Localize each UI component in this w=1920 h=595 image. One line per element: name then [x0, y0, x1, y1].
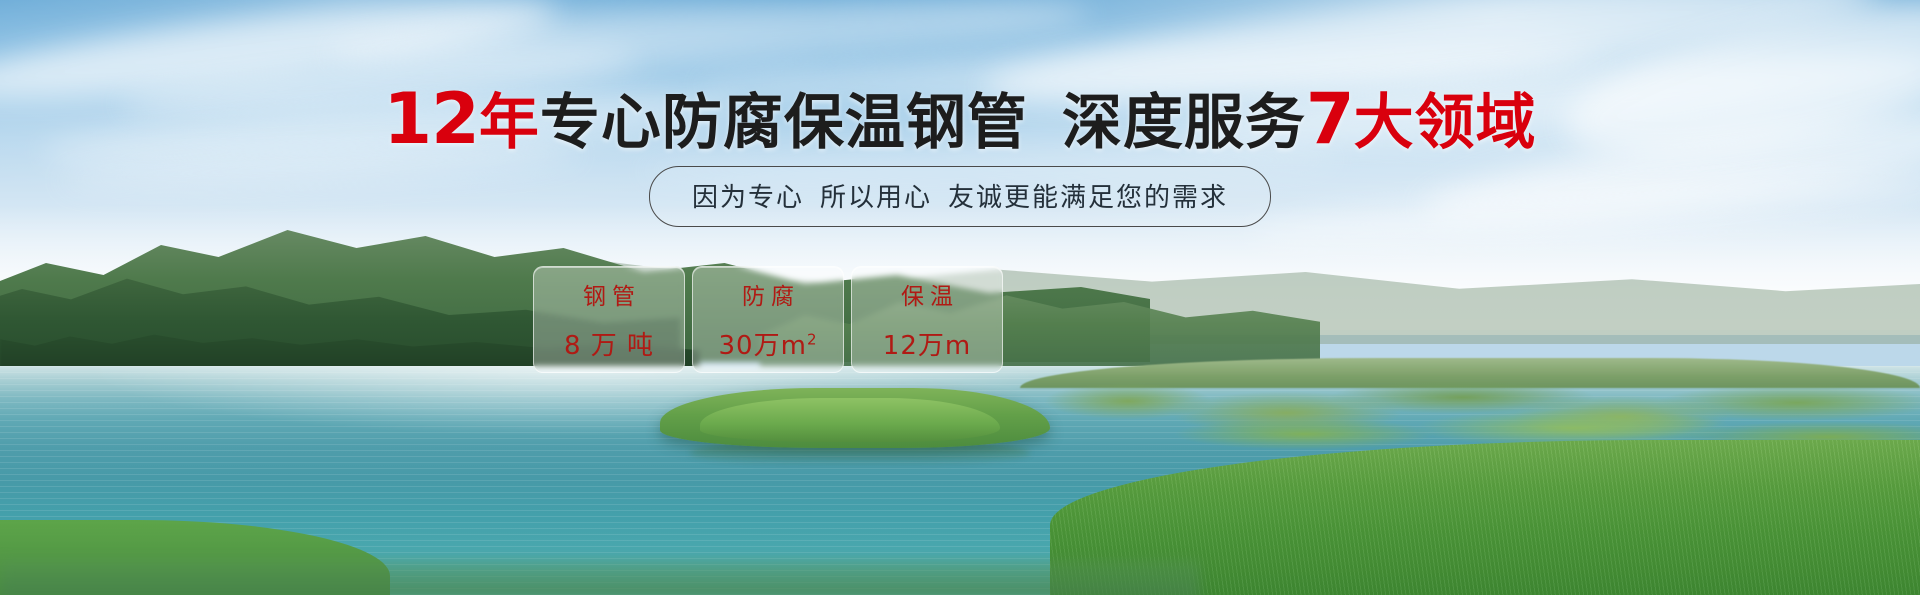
- headline-years-unit: 年: [479, 88, 540, 158]
- stat-card-value: 30万m2: [719, 325, 818, 362]
- stat-card-value-text: 12万m: [883, 331, 971, 361]
- headline-years-number: 12: [383, 78, 478, 160]
- subtitle-container: 因为专心所以用心友诚更能满足您的需求: [0, 166, 1920, 227]
- subtitle-part-3: 友诚更能满足您的需求: [948, 183, 1228, 213]
- stat-card-anticorrosion: 防腐 30万m2: [692, 266, 844, 373]
- headline-fields-word: 大领域: [1354, 88, 1537, 158]
- headline-service-text: 深度服务: [1062, 88, 1306, 158]
- headline-fields-number: 7: [1306, 78, 1354, 160]
- stat-card-steel-pipe: 钢管 8 万 吨: [533, 266, 685, 373]
- stat-card-value-text: 8 万 吨: [564, 331, 654, 361]
- subtitle-part-1: 因为专心: [692, 183, 804, 213]
- stat-card-value: 12万m: [883, 325, 971, 362]
- stat-card-value: 8 万 吨: [564, 325, 654, 362]
- stat-card-value-text: 30万m: [719, 331, 807, 361]
- headline: 12年专心防腐保温钢管深度服务7大领域: [0, 84, 1920, 154]
- stat-card-label: 防腐: [736, 277, 800, 311]
- banner-content: 12年专心防腐保温钢管深度服务7大领域 因为专心所以用心友诚更能满足您的需求 钢…: [0, 0, 1920, 595]
- stat-card-value-sup: 2: [807, 330, 818, 348]
- subtitle-part-2: 所以用心: [820, 183, 932, 213]
- stat-cards: 钢管 8 万 吨 防腐 30万m2 保温 12万m: [533, 266, 1003, 373]
- stat-card-label: 保温: [895, 277, 959, 311]
- headline-main-text: 专心防腐保温钢管: [540, 88, 1028, 158]
- hero-banner: 12年专心防腐保温钢管深度服务7大领域 因为专心所以用心友诚更能满足您的需求 钢…: [0, 0, 1920, 595]
- subtitle-pill: 因为专心所以用心友诚更能满足您的需求: [649, 166, 1271, 227]
- stat-card-insulation: 保温 12万m: [851, 266, 1003, 373]
- stat-card-label: 钢管: [577, 277, 641, 311]
